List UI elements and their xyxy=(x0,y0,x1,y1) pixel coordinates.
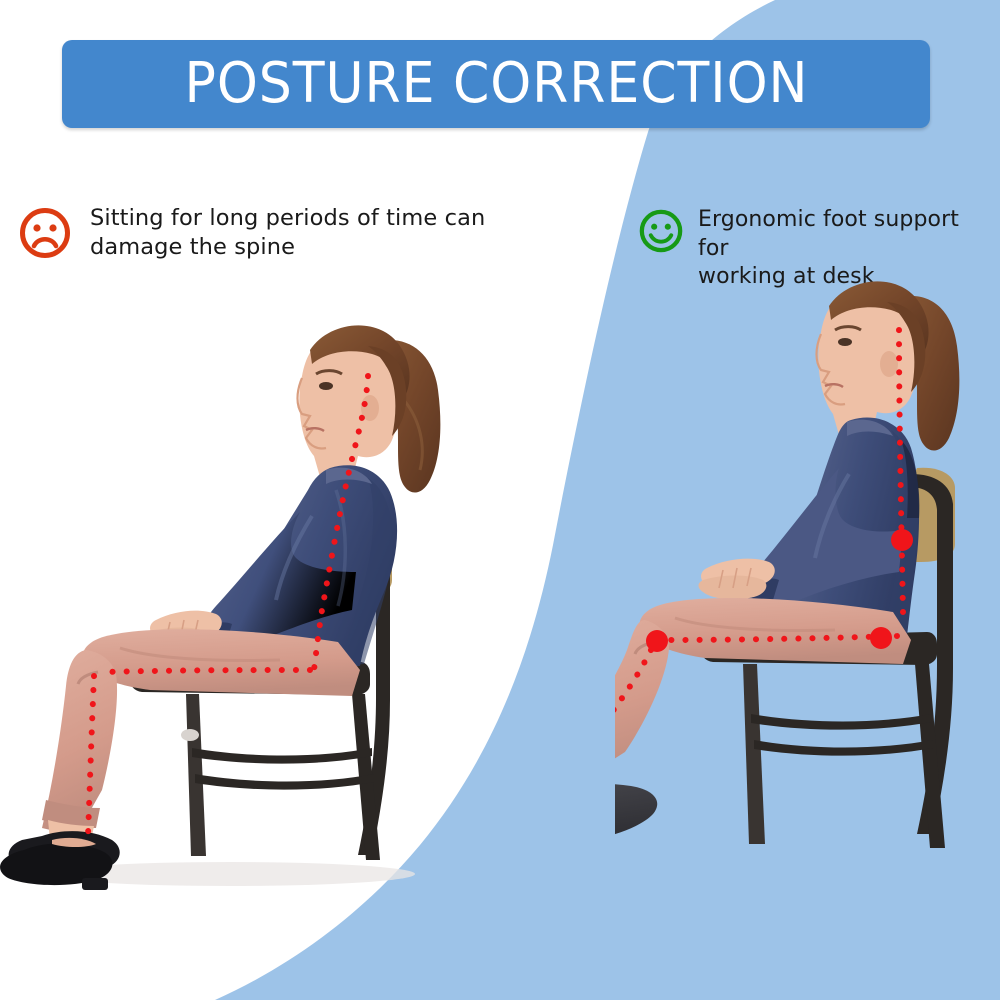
shoe-heel xyxy=(82,878,108,890)
caption-bad-posture: Sitting for long periods of time can dam… xyxy=(18,204,488,265)
page-title: POSTURE CORRECTION xyxy=(184,56,808,112)
chair-joint xyxy=(181,729,199,741)
infographic-canvas: POSTURE CORRECTION Sitting for long peri… xyxy=(0,0,1000,1000)
posture-marker-hip xyxy=(870,627,892,649)
figure-good-posture xyxy=(615,268,1000,928)
chair-stretcher-lower xyxy=(195,774,374,790)
shoes xyxy=(0,831,120,890)
footrest-assembly xyxy=(615,754,657,886)
eye xyxy=(319,382,333,390)
posture-marker-back xyxy=(891,529,913,551)
ear xyxy=(880,351,898,377)
chair-stretcher-upper xyxy=(192,748,372,764)
sad-face-icon xyxy=(18,206,72,265)
eye xyxy=(838,338,852,346)
page-title-banner: POSTURE CORRECTION xyxy=(62,40,930,128)
chair-stretcher-upper xyxy=(751,714,931,730)
figure-bad-posture xyxy=(0,280,460,900)
chair-leg-front xyxy=(743,664,765,844)
caption-bad-text: Sitting for long periods of time can dam… xyxy=(90,204,485,263)
footrest-platform xyxy=(615,783,657,848)
chair-stretcher-lower xyxy=(754,740,933,756)
happy-face-icon xyxy=(638,208,684,259)
posture-marker-knee xyxy=(646,630,668,652)
